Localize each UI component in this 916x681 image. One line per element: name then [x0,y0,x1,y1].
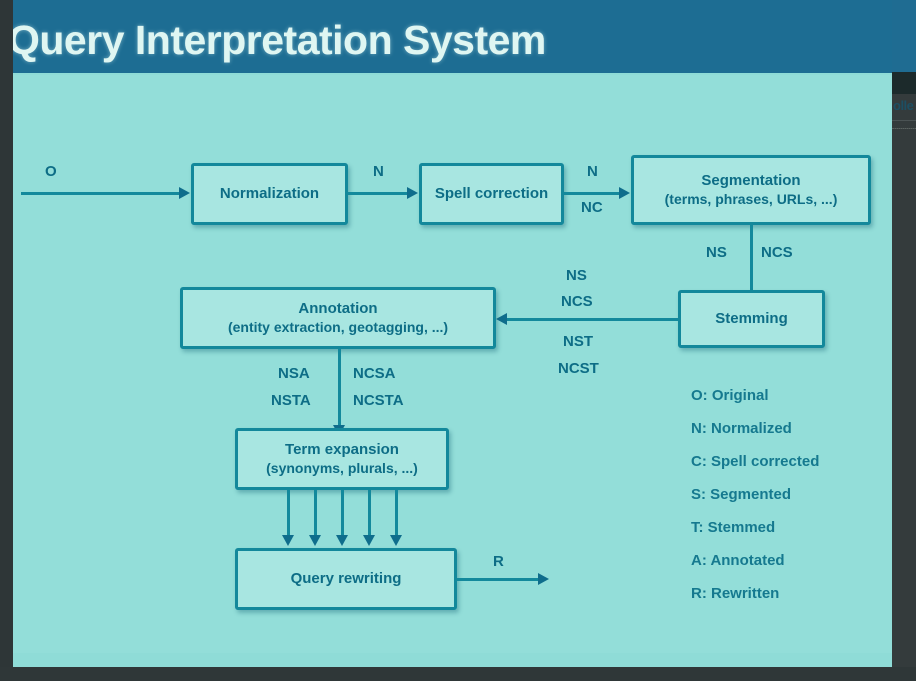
screen-bezel-bottom [0,667,916,681]
node-stemming-label: Stemming [715,310,788,329]
edge-expand-to-rewrite-arrowhead-5 [390,535,402,546]
edge-annot-to-expand-line [338,349,341,429]
legend-item-original: O: Original [691,387,769,404]
edge-label-annot-to-expand-4: NCSTA [353,392,404,409]
presentation-slide: Query Interpretation System O Normalizat… [0,0,892,667]
node-annotation-label: Annotation [298,300,377,319]
edge-expand-to-rewrite-arrowhead-1 [282,535,294,546]
node-annotation-sublabel: (entity extraction, geotagging, ...) [228,319,448,337]
edge-label-stem-to-annot-1: NS [566,267,587,284]
legend-item-spell-corrected: C: Spell corrected [691,453,819,470]
legend-item-annotated: A: Annotated [691,552,785,569]
node-annotation[interactable]: Annotation (entity extraction, geotaggin… [180,287,496,349]
screenshot-root: olle Query Interpretation System O Norma… [0,0,916,681]
edge-spell-to-seg-line [564,192,624,195]
edge-expand-to-rewrite-arrowhead-2 [309,535,321,546]
node-query-rewriting-label: Query rewriting [291,570,402,589]
background-app-dark-strip [892,72,916,94]
node-stemming[interactable]: Stemming [678,290,825,348]
edge-label-original: O [45,163,57,180]
edge-label-rewritten: R [493,553,504,570]
edge-expand-to-rewrite-line-4 [368,490,371,539]
edge-input-line [21,192,183,195]
edge-label-annot-to-expand-1: NSA [278,365,310,382]
edge-expand-to-rewrite-line-5 [395,490,398,539]
edge-label-seg-to-stem-right: NCS [761,244,793,261]
edge-label-stem-to-annot-4: NCST [558,360,599,377]
node-term-expansion-label: Term expansion [285,441,399,460]
edge-stem-to-annot-line [500,318,680,321]
edge-label-annot-to-expand-3: NSTA [271,392,311,409]
node-spell-correction[interactable]: Spell correction [419,163,564,225]
edge-label-norm-to-spell: N [373,163,384,180]
edge-output-line [457,578,542,581]
edge-output-arrowhead [538,573,549,585]
page-title: Query Interpretation System [8,17,546,64]
edge-expand-to-rewrite-line-3 [341,490,344,539]
edge-spell-to-seg-arrowhead [619,187,630,199]
legend-item-segmented: S: Segmented [691,486,791,503]
node-normalization-label: Normalization [220,185,319,204]
legend-item-stemmed: T: Stemmed [691,519,775,536]
node-segmentation-sublabel: (terms, phrases, URLs, ...) [665,191,838,209]
legend-item-normalized: N: Normalized [691,420,792,437]
edge-expand-to-rewrite-line-2 [314,490,317,539]
node-normalization[interactable]: Normalization [191,163,348,225]
node-segmentation-label: Segmentation [701,172,800,191]
node-term-expansion[interactable]: Term expansion (synonyms, plurals, ...) [235,428,449,490]
node-term-expansion-sublabel: (synonyms, plurals, ...) [266,460,418,478]
background-app-header-strip [892,0,916,72]
node-query-rewriting[interactable]: Query rewriting [235,548,457,610]
edge-label-annot-to-expand-2: NCSA [353,365,396,382]
slide-content-area: O Normalization N Spell correction N NC … [13,75,892,653]
edge-expand-to-rewrite-arrowhead-3 [336,535,348,546]
background-app-divider [892,120,916,121]
edge-label-seg-to-stem-left: NS [706,244,727,261]
edge-stem-to-annot-arrowhead [496,313,507,325]
background-app-text-sliver: olle [893,98,916,113]
edge-input-arrowhead [179,187,190,199]
edge-label-stem-to-annot-3: NST [563,333,593,350]
background-app-dotted-divider [892,128,916,129]
edge-label-stem-to-annot-2: NCS [561,293,593,310]
edge-norm-to-spell-line [348,192,411,195]
edge-label-spell-to-seg-bottom: NC [581,199,603,216]
edge-expand-to-rewrite-line-1 [287,490,290,539]
node-spell-correction-label: Spell correction [435,185,548,204]
edge-expand-to-rewrite-arrowhead-4 [363,535,375,546]
screen-bezel-left [0,0,13,681]
edge-label-spell-to-seg-top: N [587,163,598,180]
legend-item-rewritten: R: Rewritten [691,585,779,602]
edge-norm-to-spell-arrowhead [407,187,418,199]
node-segmentation[interactable]: Segmentation (terms, phrases, URLs, ...) [631,155,871,225]
